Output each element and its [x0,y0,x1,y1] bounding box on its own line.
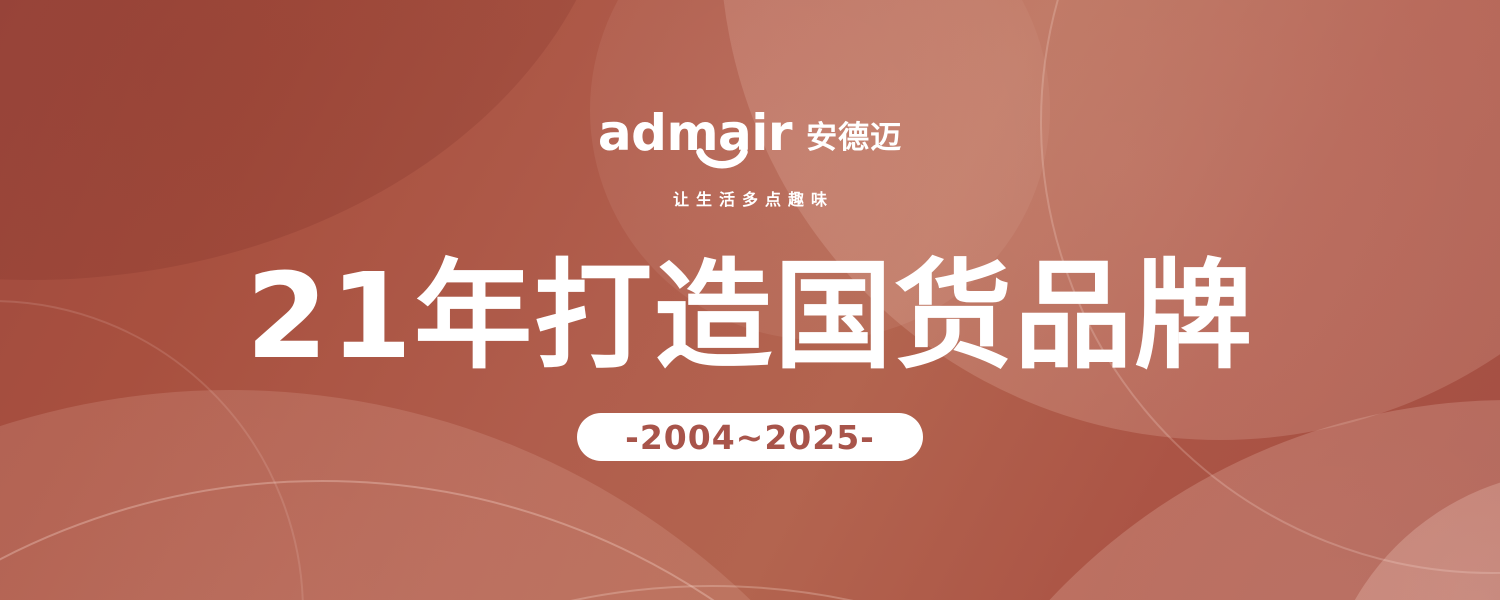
brand-logo: admair 安德迈 [0,108,1500,158]
brand-tagline: 让生活多点趣味 [0,186,1500,210]
banner-content: admair 安德迈 让生活多点趣味 21年打造国货品牌 -2004~2025- [0,0,1500,600]
year-range-badge: -2004~2025- [577,413,923,461]
logo-chinese-name: 安德迈 [806,123,902,158]
logo-wordmark-group: admair [598,108,792,158]
promo-banner: admair 安德迈 让生活多点趣味 21年打造国货品牌 -2004~2025- [0,0,1500,600]
logo-wordmark-text: admair [598,104,792,162]
year-range-label: -2004~2025- [625,421,875,454]
smile-arc-icon [696,148,748,174]
headline: 21年打造国货品牌 [0,254,1500,378]
